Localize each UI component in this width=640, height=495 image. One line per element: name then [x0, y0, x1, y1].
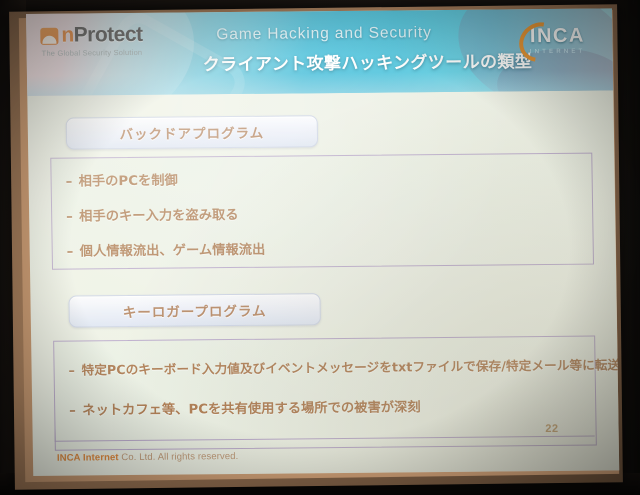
bullet-dash: – — [69, 403, 82, 418]
bullet-box-keylogger: –特定PCのキーボード入力値及びイベントメッセージをtxtファイルで保存/特定メ… — [53, 336, 597, 451]
bullet-text: 相手のPCを制御 — [79, 174, 179, 190]
slide-title-english: Game Hacking and Security — [216, 23, 546, 44]
bullet-item: –相手のキー入力を盗み取る — [66, 204, 239, 225]
nprotect-mark-icon — [40, 27, 58, 44]
bullet-text: ネットカフェ等、PCを共有使用する場所での被害が深刻 — [82, 400, 421, 418]
footer-divider-stub — [55, 428, 56, 442]
section-heading-backdoor: バックドアプログラム — [66, 115, 318, 149]
slide-body: バックドアプログラム –相手のPCを制御 –相手のキー入力を盗み取る –個人情報… — [27, 90, 619, 476]
footer-copyright: INCA Internet Co. Ltd. All rights reserv… — [57, 451, 239, 464]
bullet-text: 相手のキー入力を盗み取る — [79, 208, 239, 225]
bullet-item: –ネットカフェ等、PCを共有使用する場所での被害が深刻 — [69, 396, 421, 418]
section-heading-keylogger-label: キーロガープログラム — [123, 300, 267, 321]
bullet-item: –個人情報流出、ゲーム情報流出 — [67, 239, 266, 260]
bullet-dash: – — [66, 209, 79, 224]
nprotect-logo-rest: Protect — [73, 23, 142, 47]
section-heading-keylogger: キーロガープログラム — [68, 293, 320, 327]
slide-page-number: 22 — [545, 423, 558, 435]
nprotect-logo: nProtect The Global Security Solution — [40, 22, 191, 57]
bullet-dash: – — [66, 175, 79, 190]
nprotect-logo-initial: n — [61, 24, 74, 47]
footer-rights: Co. Ltd. All rights reserved. — [119, 451, 239, 463]
presentation-slide: nProtect The Global Security Solution Ga… — [26, 8, 619, 476]
projected-slide-photo: nProtect The Global Security Solution Ga… — [0, 0, 640, 495]
bullet-text: 特定PCのキーボード入力値及びイベントメッセージをtxtファイルで保存/特定メー… — [81, 357, 619, 377]
nprotect-tagline: The Global Security Solution — [42, 47, 191, 57]
bullet-item: –特定PCのキーボード入力値及びイベントメッセージをtxtファイルで保存/特定メ… — [68, 354, 619, 378]
slide-title-japanese: クライアント攻撃ハッキングツールの類型 — [203, 47, 553, 75]
nprotect-logo-text: nProtect — [61, 23, 143, 48]
bullet-dash: – — [68, 362, 81, 377]
footer-company: INCA Internet — [57, 452, 119, 464]
bullet-dash: – — [67, 244, 80, 259]
bullet-item: –相手のPCを制御 — [65, 170, 178, 190]
bullet-text: 個人情報流出、ゲーム情報流出 — [80, 243, 266, 260]
bullet-box-backdoor: –相手のPCを制御 –相手のキー入力を盗み取る –個人情報流出、ゲーム情報流出 — [50, 153, 594, 270]
slide-header: nProtect The Global Security Solution Ga… — [26, 8, 613, 96]
section-heading-backdoor-label: バックドアプログラム — [119, 122, 264, 143]
inca-logo: INCA INTERNET — [516, 25, 598, 56]
